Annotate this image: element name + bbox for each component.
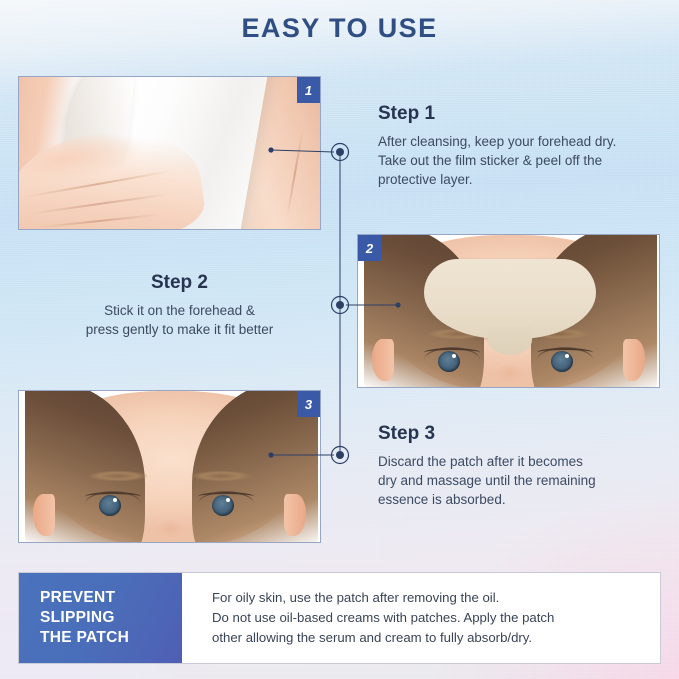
- notice-body: For oily skin, use the patch after remov…: [182, 573, 660, 663]
- step-2-badge: 2: [358, 235, 381, 261]
- step-3-badge: 3: [297, 391, 320, 417]
- page-title: EASY TO USE: [0, 13, 679, 44]
- photo-2-eyelash-left: [424, 348, 480, 357]
- step-2-photo: 2: [357, 234, 660, 388]
- step-2-title: Step 2: [38, 272, 321, 294]
- photo-3-ear-left: [33, 494, 55, 536]
- step-3-photo: 3: [18, 390, 321, 543]
- connector-node-ring-3: [332, 447, 349, 464]
- step-3-body-line: Discard the patch after it becomes: [378, 452, 660, 471]
- photo-3-eyelash-right: [198, 492, 254, 501]
- photo-3-eyelash-left: [85, 492, 141, 501]
- notice-tag: PREVENT SLIPPING THE PATCH: [19, 573, 182, 663]
- prevent-slipping-notice: PREVENT SLIPPING THE PATCH For oily skin…: [18, 572, 661, 664]
- step-3-body: Discard the patch after it becomes dry a…: [378, 452, 660, 509]
- notice-body-line: Do not use oil-based creams with patches…: [212, 608, 646, 628]
- connector-node-dot-1: [336, 148, 344, 156]
- photo-3-face: [19, 391, 320, 542]
- notice-body-line: For oily skin, use the patch after remov…: [212, 588, 646, 608]
- connector-node-ring-1: [332, 144, 349, 161]
- step-3-body-line: dry and massage until the remaining: [378, 471, 660, 490]
- photo-3-nose: [154, 520, 186, 543]
- step-1-title: Step 1: [378, 103, 660, 125]
- step-1-body: After cleansing, keep your forehead dry.…: [378, 132, 660, 189]
- notice-tag-line: THE PATCH: [40, 628, 182, 648]
- photo-2-eye-left: [424, 347, 480, 373]
- step-1-body-line: protective layer.: [378, 170, 660, 189]
- photo-3-eyebrow-right: [182, 469, 260, 483]
- step-3-body-line: essence is absorbed.: [378, 490, 660, 509]
- connector-node-ring-2: [332, 297, 349, 314]
- step-3-title: Step 3: [378, 423, 660, 445]
- photo-1-scene: [19, 77, 320, 229]
- step-1-photo: 1: [18, 76, 321, 230]
- connector-node-dot-2: [336, 301, 344, 309]
- step-1-body-line: Take out the film sticker & peel off the: [378, 151, 660, 170]
- photo-3-eye-right: [198, 491, 254, 517]
- photo-2-eyelash-right: [537, 348, 593, 357]
- notice-tag-line: SLIPPING: [40, 608, 182, 628]
- photo-3-eyebrow-left: [79, 469, 157, 483]
- step-1-badge: 1: [297, 77, 320, 103]
- step-2-body-line: press gently to make it fit better: [38, 320, 321, 339]
- photo-2-nose: [493, 365, 525, 388]
- step-2-body: Stick it on the forehead & press gently …: [38, 301, 321, 339]
- step-2-text-block: Step 2 Stick it on the forehead & press …: [38, 272, 321, 339]
- forehead-patch: [424, 259, 596, 339]
- notice-body-line: other allowing the serum and cream to fu…: [212, 628, 646, 648]
- photo-3-eye-left: [85, 491, 141, 517]
- notice-tag-line: PREVENT: [40, 588, 182, 608]
- photo-2-eye-right: [537, 347, 593, 373]
- step-3-text-block: Step 3 Discard the patch after it become…: [378, 423, 660, 509]
- step-1-body-line: After cleansing, keep your forehead dry.: [378, 132, 660, 151]
- photo-2-ear-left: [372, 339, 394, 381]
- step-1-text-block: Step 1 After cleansing, keep your forehe…: [378, 103, 660, 189]
- step-2-body-line: Stick it on the forehead &: [38, 301, 321, 320]
- connector-node-dot-3: [336, 451, 344, 459]
- easy-to-use-infographic: EASY TO USE 1: [0, 0, 679, 679]
